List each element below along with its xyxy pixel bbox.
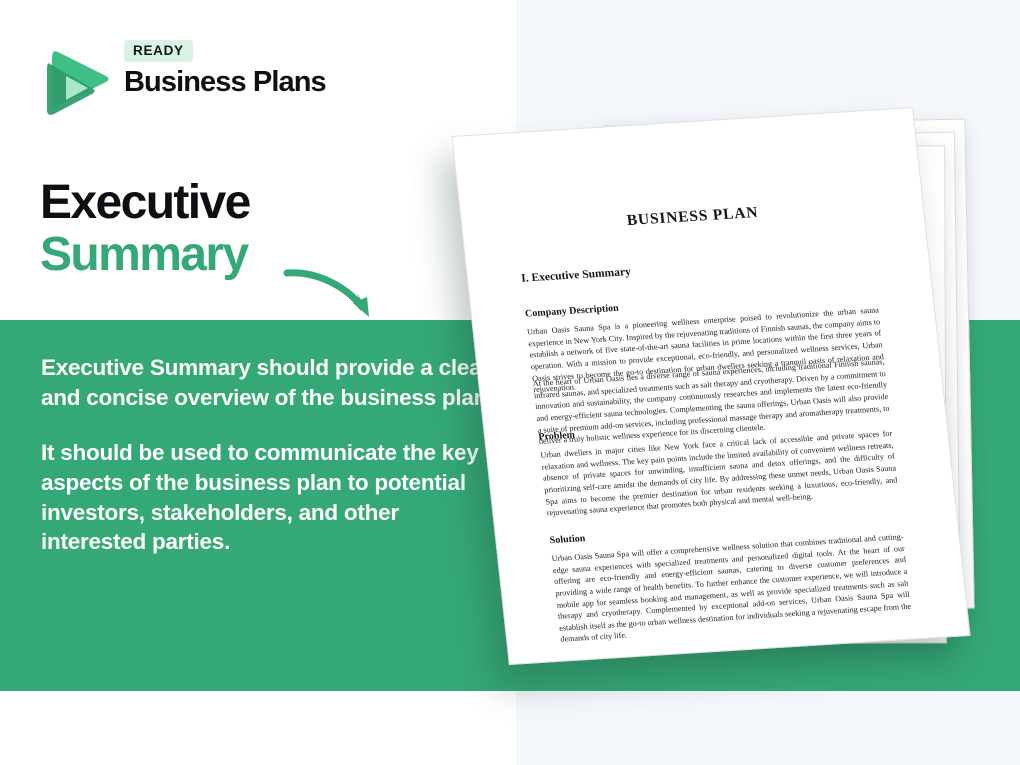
summary-paragraph-2: It should be used to communicate the key… bbox=[41, 438, 496, 557]
brand-logo: READY Business Plans bbox=[40, 38, 370, 118]
document-title: BUSINESS PLAN bbox=[462, 194, 924, 241]
page-title-line2: Summary bbox=[40, 230, 470, 280]
summary-paragraph-1: Executive Summary should provide a clear… bbox=[41, 353, 496, 412]
page-title: Executive Summary bbox=[40, 178, 470, 280]
ready-badge: READY bbox=[124, 40, 193, 62]
brand-wordmark: READY Business Plans bbox=[124, 40, 374, 97]
brand-name: Business Plans bbox=[124, 67, 374, 97]
document-heading-problem: Problem bbox=[538, 430, 576, 443]
page-title-line1: Executive bbox=[40, 178, 470, 228]
document-section-number: I. Executive Summary bbox=[521, 266, 632, 285]
document-content: BUSINESS PLAN I. Executive Summary Compa… bbox=[453, 108, 970, 664]
document-heading-company-description: Company Description bbox=[525, 303, 620, 320]
summary-panel-copy: Executive Summary should provide a clear… bbox=[41, 353, 496, 557]
curved-arrow-down-right-icon bbox=[283, 263, 379, 325]
document-paragraph-solution: Urban Oasis Sauna Spa will offer a compr… bbox=[551, 531, 913, 646]
play-triangle-logo-icon bbox=[40, 38, 112, 116]
document-heading-solution: Solution bbox=[549, 533, 586, 546]
document-stack: BUSINESS PLAN I. Executive Summary Compa… bbox=[430, 60, 1020, 680]
document-sheet-front: BUSINESS PLAN I. Executive Summary Compa… bbox=[451, 107, 970, 665]
slide-canvas: READY Business Plans Executive Summary E… bbox=[0, 0, 1020, 765]
